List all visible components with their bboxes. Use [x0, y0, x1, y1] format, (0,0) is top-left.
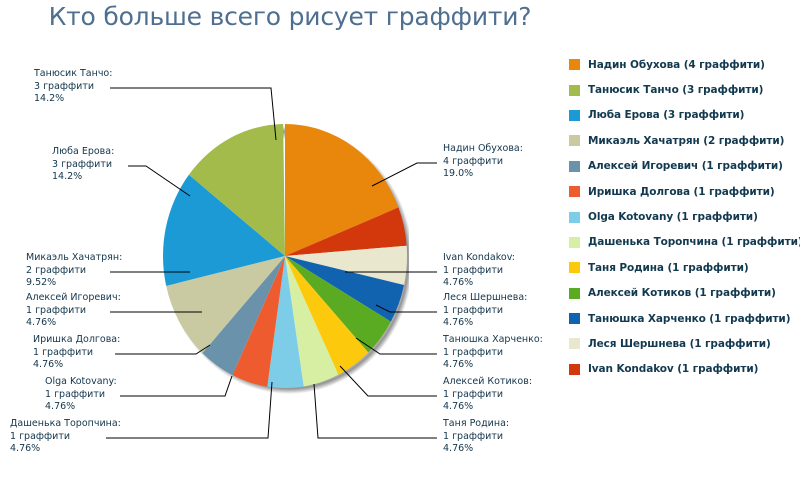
legend-color-swatch: [569, 135, 580, 146]
callout-count: 3 граффити: [34, 81, 112, 94]
callout-percent: 4.76%: [443, 317, 527, 330]
callout-count: 1 граффити: [443, 347, 543, 360]
callout-count: 1 граффити: [45, 389, 117, 402]
callout-mikael-hachatryan: Микаэль Хачатрян: 2 граффити 9.52%: [26, 252, 122, 290]
callout-count: 3 граффити: [52, 159, 114, 172]
callout-ivan-kondakov: Ivan Kondakov: 1 граффити 4.76%: [443, 252, 515, 290]
callout-aleksey-kotikov: Алексей Котиков: 1 граффити 4.76%: [443, 376, 532, 414]
callout-percent: 4.76%: [45, 401, 117, 414]
pie-svg: [163, 116, 409, 396]
callout-name: Надин Обухова:: [443, 143, 523, 156]
callout-percent: 19.0%: [443, 168, 523, 181]
callout-percent: 14.2%: [34, 93, 112, 106]
callout-percent: 4.76%: [443, 359, 543, 372]
callout-tanushka-harchenko: Танюшка Харченко: 1 граффити 4.76%: [443, 334, 543, 372]
callout-count: 1 граффити: [443, 265, 515, 278]
callout-count: 1 граффити: [443, 305, 527, 318]
legend-color-swatch: [569, 212, 580, 223]
callout-percent: 14.2%: [52, 171, 114, 184]
chart-legend: Надин Обухова (4 граффити)Танюсик Танчо …: [569, 52, 797, 382]
callout-percent: 4.76%: [26, 317, 121, 330]
legend-color-swatch: [569, 161, 580, 172]
legend-item[interactable]: Алексей Игоревич (1 граффити): [569, 154, 797, 179]
callout-nadin-obuhova: Надин Обухова: 4 граффити 19.0%: [443, 143, 523, 181]
callout-percent: 4.76%: [10, 443, 121, 456]
callout-count: 1 граффити: [26, 305, 121, 318]
legend-color-swatch: [569, 313, 580, 324]
legend-item[interactable]: Алексей Котиков (1 граффити): [569, 281, 797, 306]
pie-slices: [163, 124, 407, 388]
legend-item[interactable]: Люба Ерова (3 граффити): [569, 103, 797, 128]
legend-item[interactable]: Танюсик Танчо (3 граффити): [569, 77, 797, 102]
callout-count: 1 граффити: [10, 431, 121, 444]
callout-name: Танюсик Танчо:: [34, 68, 112, 81]
callout-lyuba-erova: Люба Ерова: 3 граффити 14.2%: [52, 146, 114, 184]
callout-lesya-shershneva: Леся Шершнева: 1 граффити 4.76%: [443, 292, 527, 330]
legend-color-swatch: [569, 262, 580, 273]
page-title: Кто больше всего рисует граффити?: [0, 2, 580, 31]
callout-name: Дашенька Торопчина:: [10, 418, 121, 431]
legend-color-swatch: [569, 85, 580, 96]
pie-chart: [163, 116, 409, 396]
callout-name: Люба Ерова:: [52, 146, 114, 159]
callout-name: Алексей Котиков:: [443, 376, 532, 389]
callout-name: Таня Родина:: [443, 418, 509, 431]
legend-item-label: Алексей Игоревич (1 граффити): [588, 160, 783, 172]
callout-dashenka-toropchina: Дашенька Торопчина: 1 граффити 4.76%: [10, 418, 121, 456]
chart-canvas: Кто больше всего рисует граффити?: [0, 0, 800, 500]
legend-item[interactable]: Дашенька Торопчина (1 граффити): [569, 230, 797, 255]
legend-item[interactable]: Надин Обухова (4 граффити): [569, 52, 797, 77]
legend-item[interactable]: Танюшка Харченко (1 граффити): [569, 306, 797, 331]
legend-color-swatch: [569, 288, 580, 299]
callout-count: 2 граффити: [26, 265, 122, 278]
legend-item-label: Ivan Kondakov (1 граффити): [588, 363, 758, 375]
legend-item-label: Люба Ерова (3 граффити): [588, 109, 744, 121]
legend-item[interactable]: Иришка Долгова (1 граффити): [569, 179, 797, 204]
legend-item-label: Алексей Котиков (1 граффити): [588, 287, 776, 299]
legend-item-label: Olga Kotovany (1 граффити): [588, 211, 758, 223]
legend-item-label: Таня Родина (1 граффити): [588, 262, 749, 274]
callout-name: Иришка Долгова:: [33, 334, 120, 347]
legend-item-label: Дашенька Торопчина (1 граффити): [588, 236, 800, 248]
callout-name: Леся Шершнева:: [443, 292, 527, 305]
callout-name: Ivan Kondakov:: [443, 252, 515, 265]
callout-percent: 4.76%: [443, 443, 509, 456]
callout-count: 1 граффити: [443, 389, 532, 402]
legend-item-label: Микаэль Хачатрян (2 граффити): [588, 135, 784, 147]
legend-item-label: Леся Шершнева (1 граффити): [588, 338, 771, 350]
legend-item[interactable]: Таня Родина (1 граффити): [569, 255, 797, 280]
callout-name: Olga Kotovany:: [45, 376, 117, 389]
legend-item-label: Танюшка Харченко (1 граффити): [588, 313, 790, 325]
legend-item-label: Надин Обухова (4 граффити): [588, 59, 765, 71]
callout-tanusik-tancho: Танюсик Танчо: 3 граффити 14.2%: [34, 68, 112, 106]
callout-olga-kotovany: Olga Kotovany: 1 граффити 4.76%: [45, 376, 117, 414]
legend-item-label: Танюсик Танчо (3 граффити): [588, 84, 763, 96]
callout-aleksey-igorevich: Алексей Игоревич: 1 граффити 4.76%: [26, 292, 121, 330]
legend-color-swatch: [569, 237, 580, 248]
callout-count: 4 граффити: [443, 156, 523, 169]
callout-percent: 4.76%: [443, 401, 532, 414]
legend-item-label: Иришка Долгова (1 граффити): [588, 186, 775, 198]
callout-irishka-dolgova: Иришка Долгова: 1 граффити 4.76%: [33, 334, 120, 372]
callout-name: Микаэль Хачатрян:: [26, 252, 122, 265]
legend-item[interactable]: Микаэль Хачатрян (2 граффити): [569, 128, 797, 153]
legend-color-swatch: [569, 110, 580, 121]
callout-percent: 4.76%: [443, 277, 515, 290]
legend-item[interactable]: Olga Kotovany (1 граффити): [569, 204, 797, 229]
legend-color-swatch: [569, 59, 580, 70]
legend-color-swatch: [569, 338, 580, 349]
callout-percent: 4.76%: [33, 359, 120, 372]
callout-percent: 9.52%: [26, 277, 122, 290]
callout-name: Танюшка Харченко:: [443, 334, 543, 347]
callout-tanya-rodina: Таня Родина: 1 граффити 4.76%: [443, 418, 509, 456]
callout-count: 1 граффити: [33, 347, 120, 360]
legend-item[interactable]: Леся Шершнева (1 граффити): [569, 331, 797, 356]
legend-item[interactable]: Ivan Kondakov (1 граффити): [569, 357, 797, 382]
callout-name: Алексей Игоревич:: [26, 292, 121, 305]
legend-color-swatch: [569, 364, 580, 375]
legend-color-swatch: [569, 186, 580, 197]
callout-count: 1 граффити: [443, 431, 509, 444]
